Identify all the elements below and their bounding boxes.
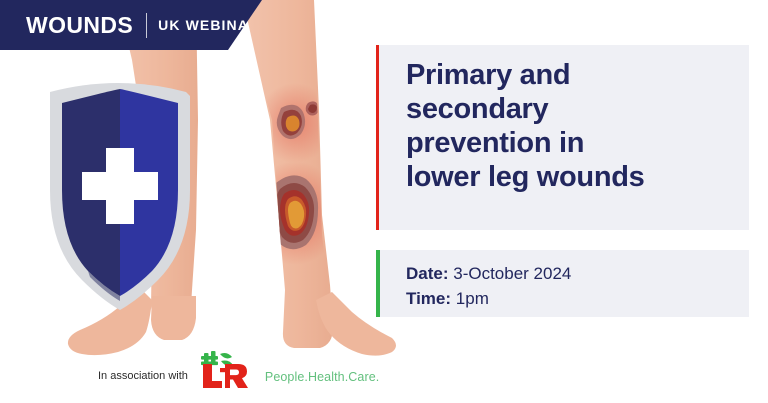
legs-and-shield-illustration <box>0 0 400 403</box>
wounds-uk-webinar-logo: WOUNDS UK WEBINAR <box>0 0 262 50</box>
title-line-4: lower leg wounds <box>406 161 739 195</box>
logo-divider <box>146 13 147 38</box>
title-line-3: prevention in <box>406 127 739 161</box>
title-panel: Primary and secondary prevention in lowe… <box>376 45 749 230</box>
date-value: 3-October 2024 <box>453 264 571 283</box>
date-label: Date: <box>406 264 449 283</box>
upper-wound-satellite <box>306 101 319 115</box>
time-row: Time: 1pm <box>406 287 739 312</box>
title-panel-body: Primary and secondary prevention in lowe… <box>379 45 749 230</box>
lr-tagline: People.Health.Care. <box>265 359 379 384</box>
lower-wound <box>270 175 318 249</box>
title-line-1: Primary and <box>406 59 739 93</box>
time-value: 1pm <box>456 289 489 308</box>
datetime-panel: Date: 3-October 2024 Time: 1pm <box>376 250 749 317</box>
datetime-panel-body: Date: 3-October 2024 Time: 1pm <box>380 250 749 317</box>
date-row: Date: 3-October 2024 <box>406 262 739 287</box>
content-column: Primary and secondary prevention in lowe… <box>376 0 768 403</box>
lr-green-accent <box>201 351 233 366</box>
webinar-promo-banner: WOUNDS UK WEBINAR Primary and secondary … <box>0 0 768 403</box>
title-line-2: secondary <box>406 93 739 127</box>
association-text: In association with <box>98 361 188 382</box>
time-label: Time: <box>406 289 451 308</box>
brand-name: WOUNDS <box>26 14 133 37</box>
page-title: Primary and secondary prevention in lowe… <box>406 59 739 195</box>
right-leg-with-wounds <box>243 0 396 356</box>
lr-red-letters <box>203 364 248 388</box>
partner-footer: In association with <box>98 348 379 394</box>
lr-logo-icon <box>200 351 256 391</box>
